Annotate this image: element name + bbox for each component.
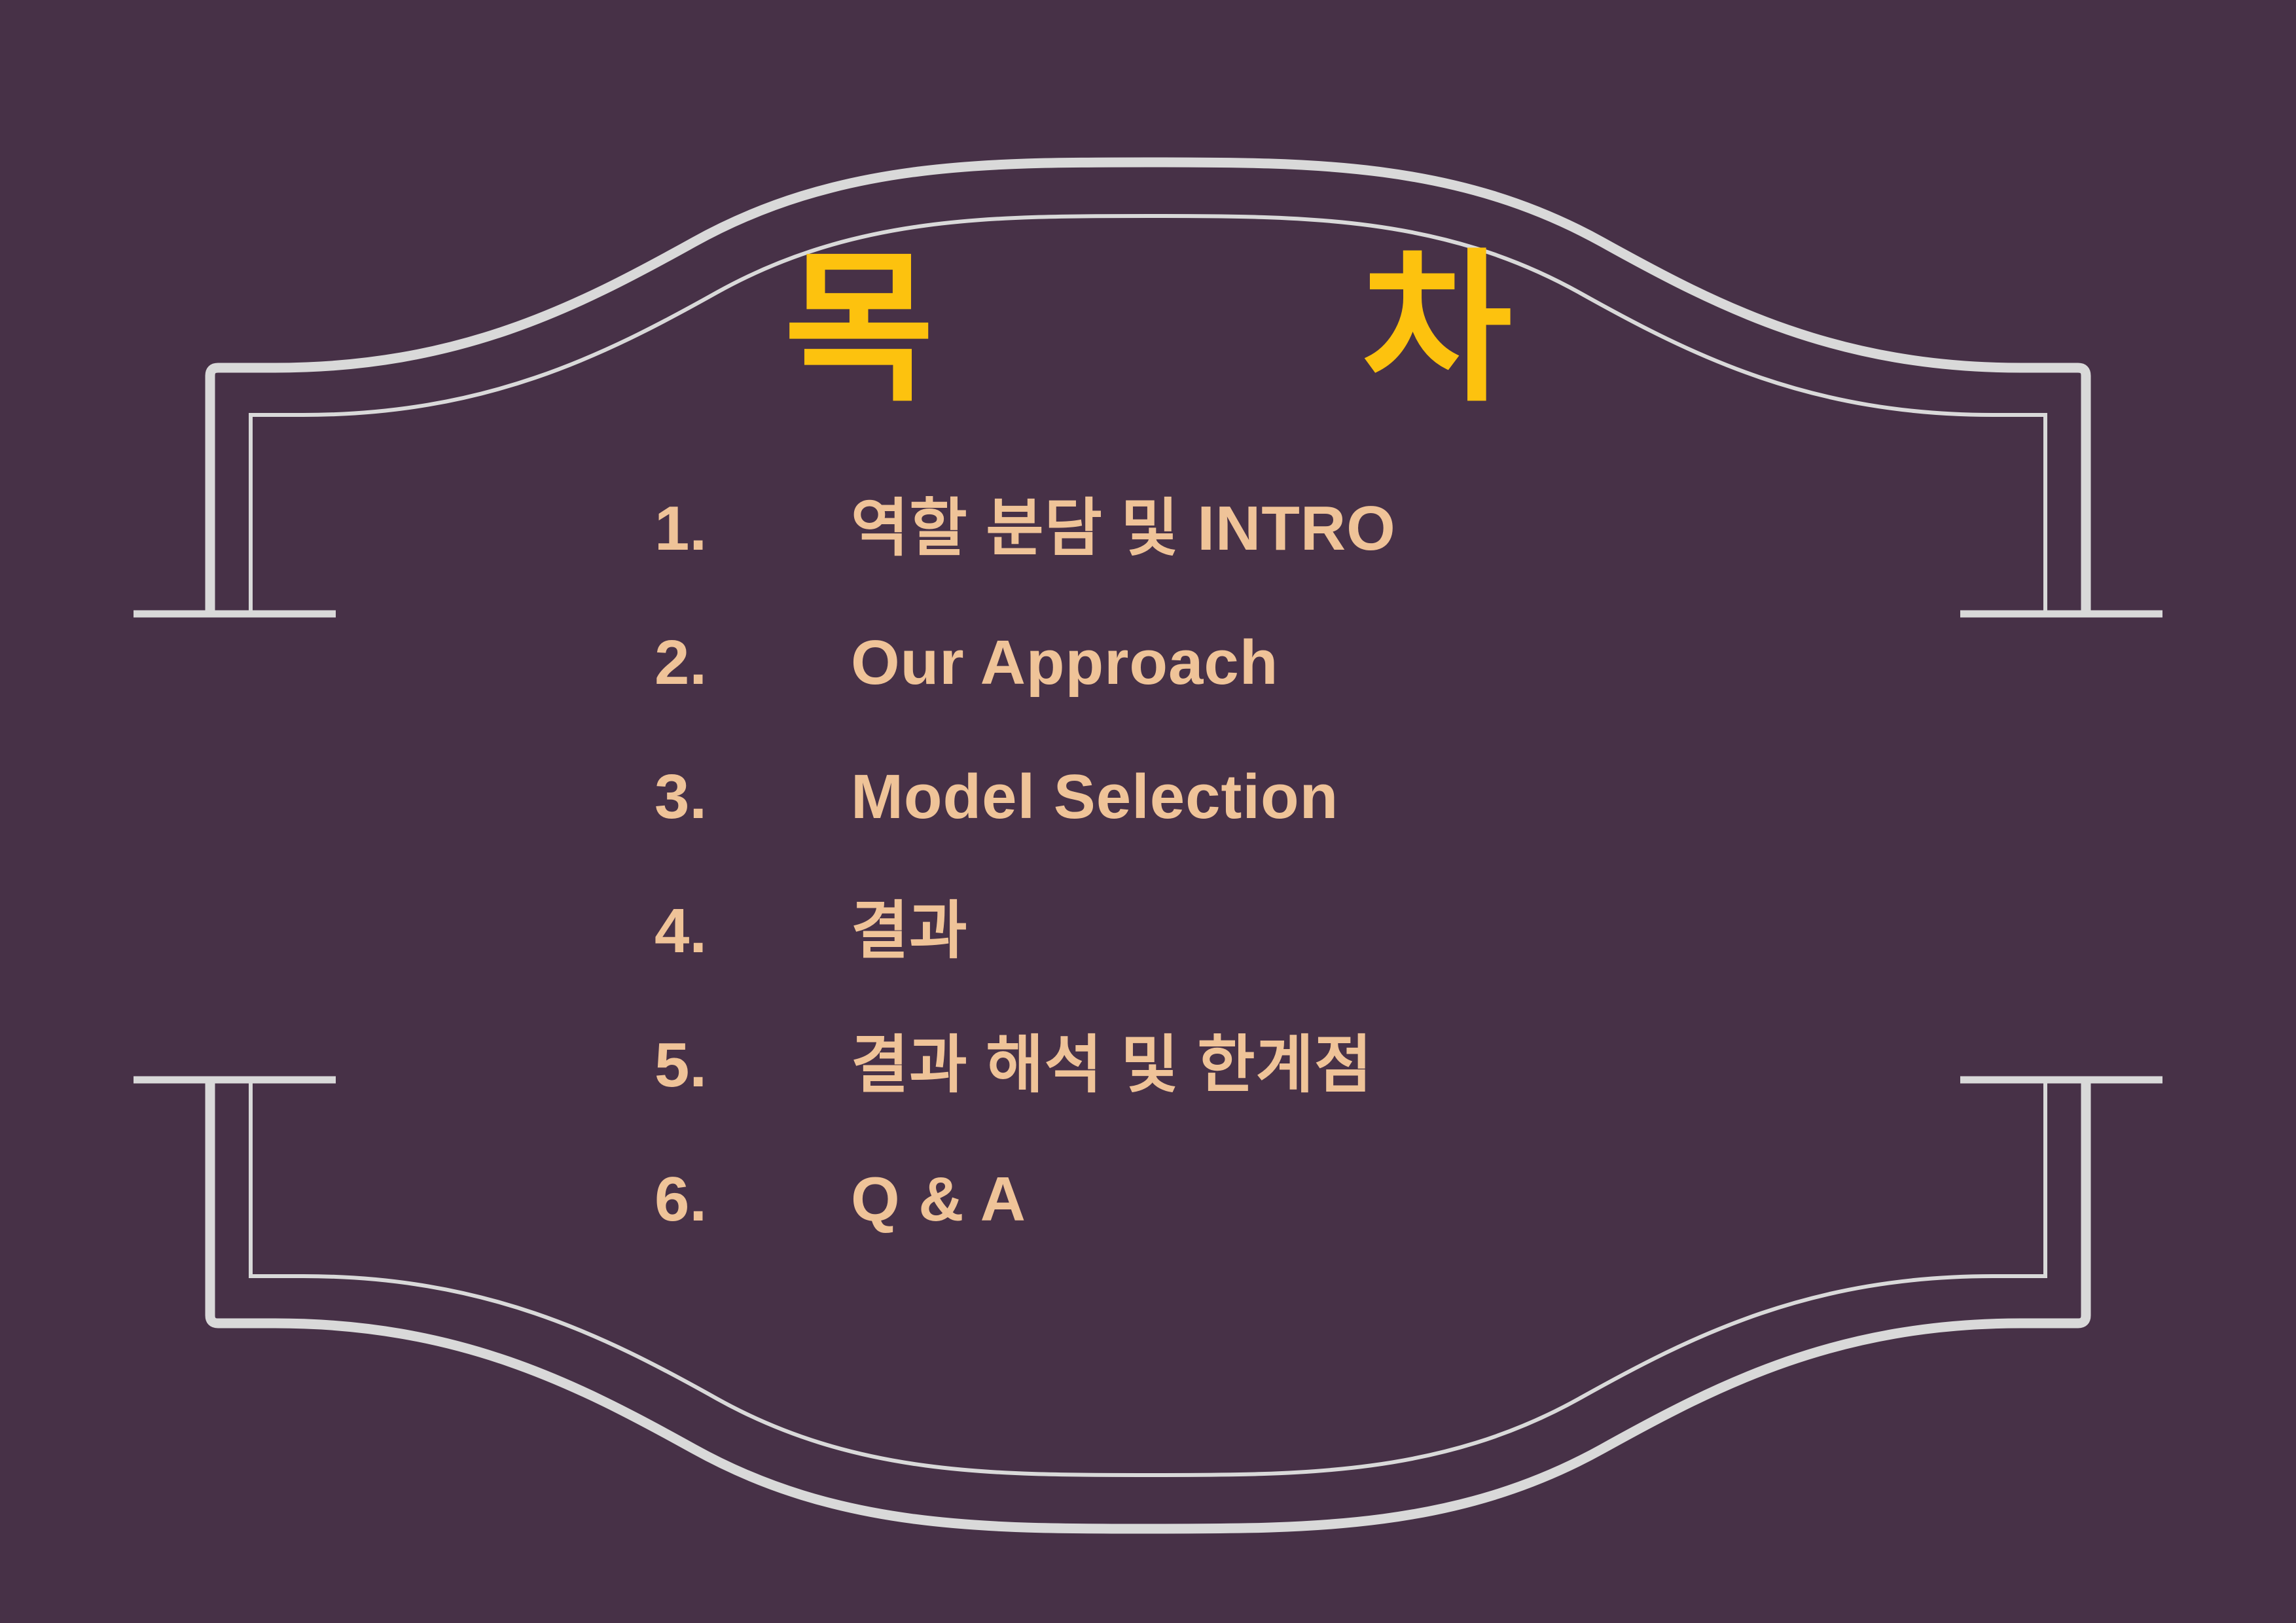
list-item-label: 역할 분담 및 INTRO [851,497,1396,560]
list-item-number: 4. [655,900,851,963]
list-item[interactable]: 5. 결과 해석 및 한계점 [655,1034,1964,1168]
list-item[interactable]: 1. 역할 분담 및 INTRO [655,497,1964,632]
list-item-number: 6. [655,1168,851,1231]
list-item-label: Our Approach [851,632,1278,694]
list-item-label: 결과 해석 및 한계점 [851,1034,1372,1097]
page-title: 목 차 [0,247,2296,411]
list-item[interactable]: 3. Model Selection [655,766,1964,900]
list-item-number: 2. [655,632,851,694]
list-item-label: 결과 [851,900,968,963]
list-item-label: Model Selection [851,766,1338,829]
list-item[interactable]: 6. Q & A [655,1168,1964,1302]
table-of-contents-list: 1. 역할 분담 및 INTRO 2. Our Approach 3. Mode… [655,497,1964,1302]
list-item[interactable]: 2. Our Approach [655,632,1964,766]
list-item-number: 3. [655,766,851,829]
list-item-label: Q & A [851,1168,1026,1231]
list-item-number: 5. [655,1034,851,1097]
slide-content: 목 차 1. 역할 분담 및 INTRO 2. Our Approach 3. … [0,0,2296,1623]
list-item[interactable]: 4. 결과 [655,900,1964,1034]
slide-canvas: 목 차 1. 역할 분담 및 INTRO 2. Our Approach 3. … [0,0,2296,1623]
list-item-number: 1. [655,497,851,560]
